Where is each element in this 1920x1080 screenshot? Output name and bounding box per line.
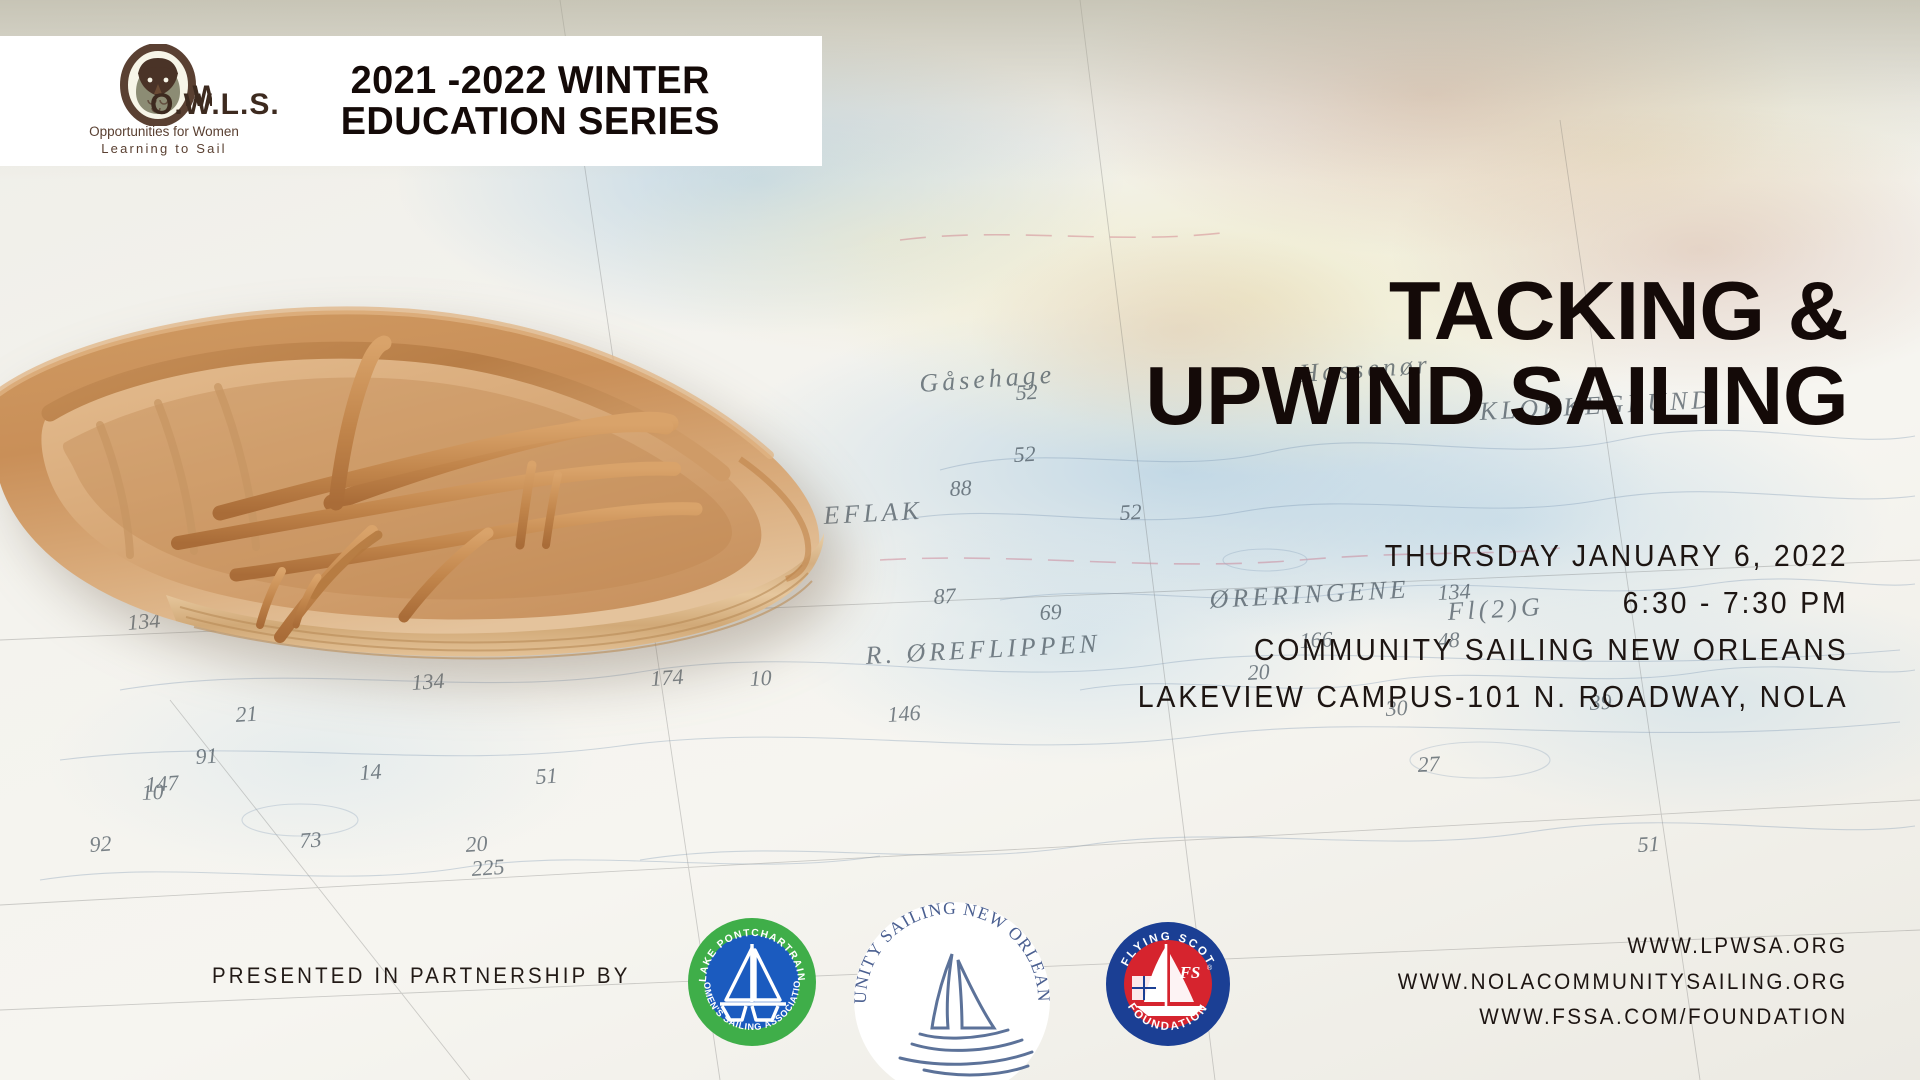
svg-text:14: 14 <box>359 759 383 785</box>
presented-by-label: PRESENTED IN PARTNERSHIP BY <box>212 963 631 989</box>
svg-text:88: 88 <box>949 475 972 501</box>
fssa-monogram: FS <box>1179 963 1201 982</box>
owls-acronym-text: O.W.L.S. <box>150 88 280 122</box>
svg-text:20: 20 <box>465 831 489 857</box>
svg-text:52: 52 <box>1013 441 1036 467</box>
svg-text:52: 52 <box>1119 499 1142 525</box>
event-flyer: 134 21 134 174 146 14 91 147 92 73 51 20… <box>0 0 1920 1080</box>
headline-line1: TACKING & <box>1145 268 1848 353</box>
banner-title-line2: EDUCATION SERIES <box>280 101 781 142</box>
event-time: 6:30 - 7:30 PM <box>1137 579 1848 626</box>
url-nolacommunitysailing[interactable]: WWW.NOLACOMMUNITYSAILING.ORG <box>1398 964 1848 1000</box>
banner-title-line1: 2021 -2022 WINTER <box>280 60 781 101</box>
sponsor-logo-lpwsa: LAKE PONTCHARTRAIN WOMEN'S SAILING ASSOC… <box>686 916 818 1048</box>
svg-text:21: 21 <box>235 701 259 727</box>
event-date: THURSDAY JANUARY 6, 2022 <box>1137 532 1848 579</box>
svg-text:51: 51 <box>1637 831 1660 857</box>
svg-text:69: 69 <box>1039 599 1062 625</box>
svg-text:225: 225 <box>471 854 506 881</box>
wooden-toy-boat <box>0 245 880 675</box>
svg-text:146: 146 <box>887 700 922 727</box>
svg-text:91: 91 <box>195 743 219 769</box>
url-fssa-foundation[interactable]: WWW.FSSA.COM/FOUNDATION <box>1398 999 1848 1035</box>
svg-text:92: 92 <box>89 831 113 857</box>
sponsor-logo-fssa: FS ® FLYING SCOT FOUNDATION <box>1104 920 1232 1048</box>
page-title: TACKING & UPWIND SAILING <box>1145 268 1848 439</box>
owls-tagline-line1: Opportunities for Women <box>78 124 250 141</box>
svg-text:73: 73 <box>299 827 323 853</box>
sponsor-urls: WWW.LPWSA.ORG WWW.NOLACOMMUNITYSAILING.O… <box>1398 928 1848 1035</box>
event-address: LAKEVIEW CAMPUS-101 N. ROADWAY, NOLA <box>1137 673 1848 720</box>
sponsor-logo-csno: COMMUNITY SAILING NEW ORLEANS, INC. <box>836 888 1068 1080</box>
headline-line2: UPWIND SAILING <box>1145 353 1848 438</box>
owls-tagline-line2: Learning to Sail <box>78 141 250 157</box>
event-details: THURSDAY JANUARY 6, 2022 6:30 - 7:30 PM … <box>1137 532 1848 720</box>
banner-title: 2021 -2022 WINTER EDUCATION SERIES <box>280 60 806 143</box>
svg-text:27: 27 <box>1417 751 1441 777</box>
header-banner: .W Opportunities for Women Learning to S… <box>0 36 822 166</box>
svg-text:51: 51 <box>535 763 559 789</box>
sponsor-logos: LAKE PONTCHARTRAIN WOMEN'S SAILING ASSOC… <box>686 898 1286 1080</box>
svg-text:87: 87 <box>933 583 957 609</box>
event-venue: COMMUNITY SAILING NEW ORLEANS <box>1137 626 1848 673</box>
svg-text:10: 10 <box>141 779 164 805</box>
svg-text:R. ØREFLIPPEN: R. ØREFLIPPEN <box>864 629 1102 670</box>
url-lpwsa[interactable]: WWW.LPWSA.ORG <box>1398 928 1848 964</box>
